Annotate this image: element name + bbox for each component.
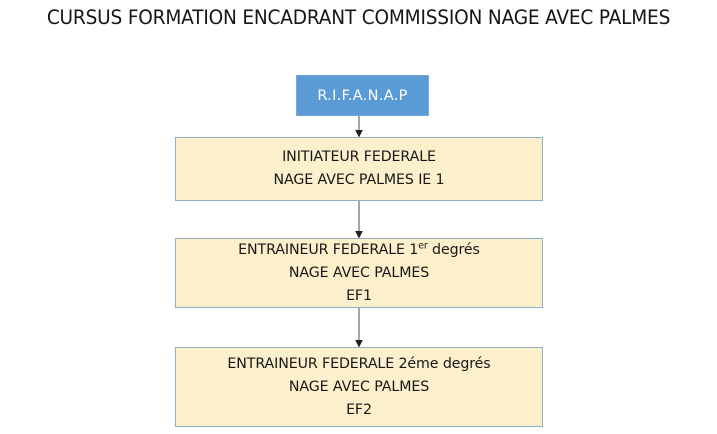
arrow-down-icon (352, 116, 366, 138)
flow-node-initiateur-federale-line-1: INITIATEUR FEDERALE (282, 146, 436, 169)
flow-node-ef2-line-2: NAGE AVEC PALMES (289, 376, 429, 399)
arrow-down-icon (352, 308, 366, 348)
flow-node-ef2-line-3: EF2 (346, 399, 372, 422)
flow-node-rifanap-label: R.I.F.A.N.A.P (317, 88, 407, 104)
flow-node-ef1-line-1-tail: degrés (428, 242, 480, 258)
flow-node-initiateur-federale-line-2: NAGE AVEC PALMES IE 1 (274, 169, 445, 192)
flow-node-rifanap[interactable]: R.I.F.A.N.A.P (296, 75, 429, 116)
connector-rifanap-to-initiateur (352, 116, 366, 138)
flow-node-entraineur-federale-2eme-degres[interactable]: ENTRAINEUR FEDERALE 2éme degrés NAGE AVE… (175, 347, 543, 427)
flow-node-entraineur-federale-1er-degres[interactable]: ENTRAINEUR FEDERALE 1er degrés NAGE AVEC… (175, 238, 543, 308)
arrow-down-icon (352, 201, 366, 239)
flow-node-ef1-line-1-main: ENTRAINEUR FEDERALE 1 (238, 242, 418, 258)
connector-ef1-to-ef2 (352, 308, 366, 348)
flowchart-canvas: CURSUS FORMATION ENCADRANT COMMISSION NA… (0, 0, 717, 434)
flow-node-ef1-line-1: ENTRAINEUR FEDERALE 1er degrés (238, 239, 480, 262)
flow-node-ef1-ordinal-suffix: er (418, 240, 427, 251)
flow-node-ef1-line-2: NAGE AVEC PALMES (289, 262, 429, 285)
flow-node-ef1-line-3: EF1 (346, 285, 372, 308)
flow-node-ef2-line-1: ENTRAINEUR FEDERALE 2éme degrés (227, 353, 490, 376)
page-title: CURSUS FORMATION ENCADRANT COMMISSION NA… (18, 6, 699, 29)
connector-initiateur-to-ef1 (352, 201, 366, 239)
flow-node-initiateur-federale[interactable]: INITIATEUR FEDERALE NAGE AVEC PALMES IE … (175, 137, 543, 201)
